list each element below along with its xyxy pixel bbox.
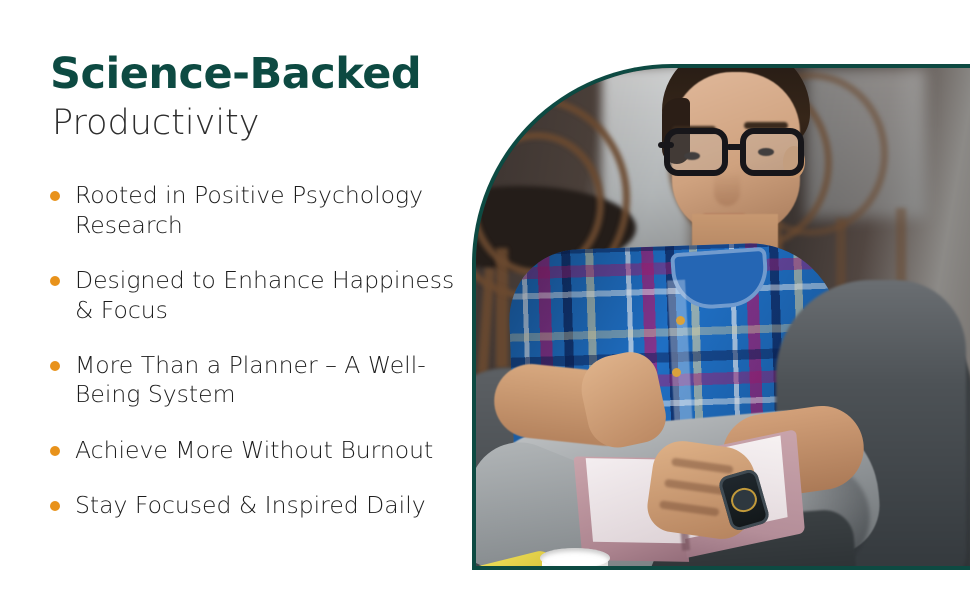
copy-column: Science-Backed Productivity Rooted in Po… [0,0,470,600]
lifestyle-photo-panel [472,64,970,570]
promo-banner: Science-Backed Productivity Rooted in Po… [0,0,970,600]
page-title: Science-Backed [50,52,460,97]
list-item-label: More Than a Planner – A Well-Being Syste… [75,351,426,408]
bullet-dot-icon [50,361,60,371]
shirt-button [672,368,681,377]
finger [659,500,720,516]
list-item: Rooted in Positive Psychology Research [50,181,462,240]
feature-list: Rooted in Positive Psychology Research D… [50,181,462,520]
bullet-dot-icon [50,276,60,286]
finger [671,458,734,475]
list-item: Designed to Enhance Happiness & Focus [50,266,462,325]
watch-face [728,485,760,515]
page-subtitle: Productivity [52,103,460,143]
bullet-dot-icon [50,446,60,456]
bullet-dot-icon [50,191,60,201]
list-item-label: Achieve More Without Burnout [75,436,433,464]
eyeglass-temple [658,142,674,148]
list-item: Achieve More Without Burnout [50,436,462,465]
list-item-label: Stay Focused & Inspired Daily [75,491,426,519]
list-item: Stay Focused & Inspired Daily [50,491,462,520]
list-item-label: Rooted in Positive Psychology Research [75,181,423,238]
lifestyle-photo [476,68,970,566]
eyeglass-lens-left [664,128,728,176]
eyeglass-bridge [726,144,744,150]
list-item-label: Designed to Enhance Happiness & Focus [75,266,454,323]
eyeglasses-icon [658,128,820,178]
eyeglass-lens-right [740,128,804,176]
bullet-dot-icon [50,501,60,511]
mug-rim [540,548,610,566]
list-item: More Than a Planner – A Well-Being Syste… [50,351,462,410]
shirt-button [676,316,685,325]
